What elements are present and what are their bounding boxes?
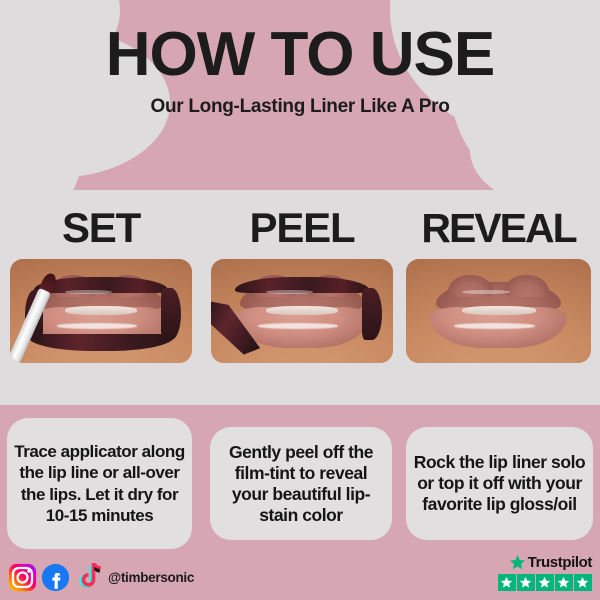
instruction-text-peel: Gently peel off the film-tint to reveal … bbox=[216, 442, 386, 526]
how-to-use-poster: HOW TO USE Our Long-Lasting Liner Like A… bbox=[0, 0, 600, 600]
lips-with-applicator-photo bbox=[10, 259, 192, 363]
instruction-text-set: Trace applicator along the lip line or a… bbox=[13, 441, 186, 527]
trustpilot-name: Trustpilot bbox=[528, 554, 592, 571]
lips-peeling-film-photo bbox=[211, 259, 393, 363]
instruction-card-reveal: Rock the lip liner solo or top it off wi… bbox=[406, 427, 593, 540]
mouth-opening bbox=[266, 306, 339, 315]
rating-star bbox=[498, 574, 516, 592]
instructions-section: Trace applicator along the lip line or a… bbox=[0, 405, 600, 600]
trustpilot-wordmark: Trustpilot bbox=[498, 554, 592, 571]
liner-film-right-corner bbox=[161, 288, 181, 340]
trustpilot-rating-stars bbox=[498, 574, 592, 592]
page-subtitle: Our Long-Lasting Liner Like A Pro bbox=[0, 96, 600, 118]
step-column-set: SET bbox=[10, 190, 192, 252]
mouth-opening bbox=[462, 306, 536, 315]
lip-gloss-highlight bbox=[454, 323, 535, 328]
rating-star bbox=[574, 574, 592, 592]
rating-star bbox=[517, 574, 535, 592]
mouth-opening bbox=[65, 306, 138, 315]
page-title: HOW TO USE bbox=[0, 24, 600, 86]
rating-star bbox=[536, 574, 554, 592]
tiktok-icon[interactable] bbox=[74, 563, 103, 592]
upper-lip-highlight bbox=[462, 290, 510, 294]
step-heading-peel: PEEL bbox=[211, 204, 393, 252]
lips-revealed-stain-photo bbox=[406, 259, 591, 363]
steps-section: SET PEEL bbox=[0, 190, 600, 405]
rating-star bbox=[555, 574, 573, 592]
upper-lip-highlight bbox=[266, 290, 313, 294]
step-column-peel: PEEL bbox=[211, 190, 393, 252]
trustpilot-star-icon bbox=[509, 554, 526, 571]
upper-lip-highlight bbox=[65, 290, 112, 294]
instagram-icon[interactable] bbox=[8, 563, 37, 592]
step-column-reveal: REVEAL bbox=[406, 190, 591, 252]
instruction-card-set: Trace applicator along the lip line or a… bbox=[7, 418, 192, 549]
lip-gloss-highlight bbox=[258, 323, 338, 328]
facebook-icon[interactable] bbox=[41, 563, 70, 592]
trustpilot-badge[interactable]: Trustpilot bbox=[498, 554, 592, 592]
social-links: @timbersonic bbox=[8, 563, 194, 592]
liner-film-right-corner bbox=[362, 288, 382, 340]
instruction-card-peel: Gently peel off the film-tint to reveal … bbox=[210, 427, 392, 540]
instruction-text-reveal: Rock the lip liner solo or top it off wi… bbox=[412, 452, 587, 515]
lip-gloss-highlight bbox=[57, 323, 137, 328]
step-heading-set: SET bbox=[10, 204, 192, 252]
social-handle: @timbersonic bbox=[108, 570, 194, 585]
step-heading-reveal: REVEAL bbox=[406, 204, 591, 252]
